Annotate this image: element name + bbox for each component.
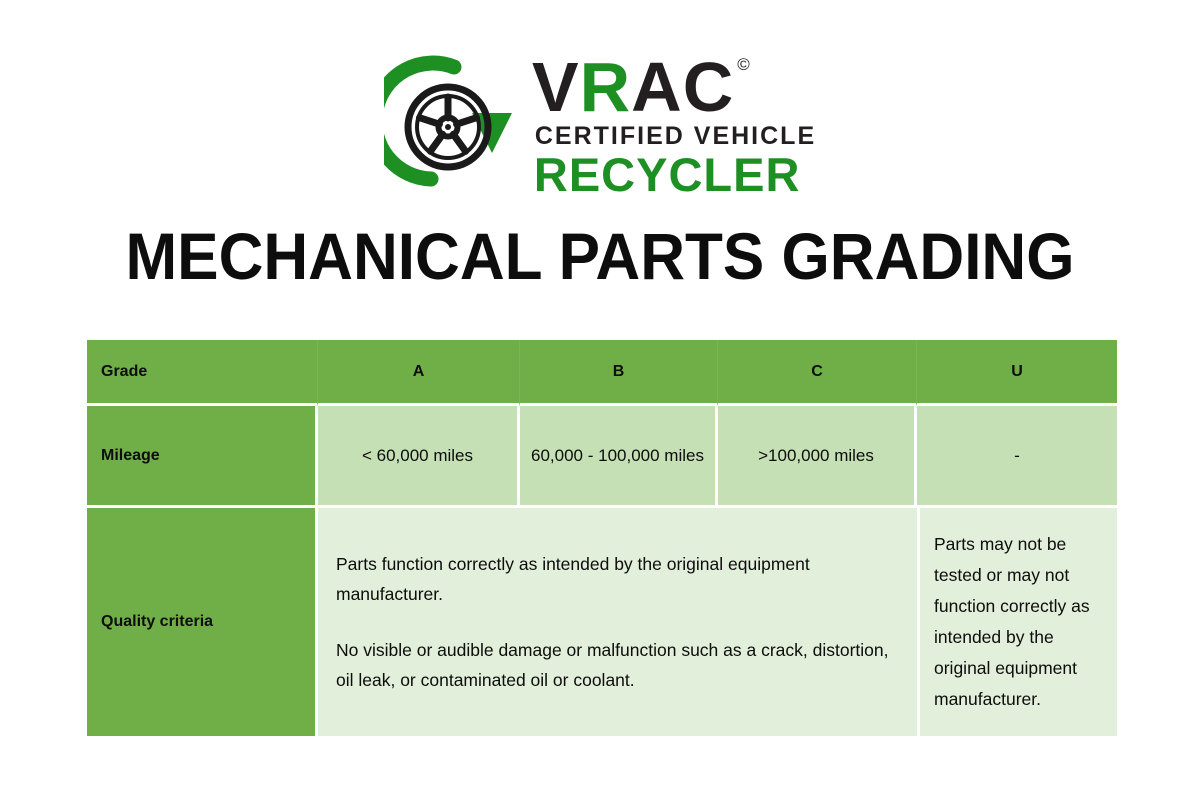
logo-letter-v: V (532, 52, 580, 122)
page-title: MECHANICAL PARTS GRADING (36, 218, 1164, 294)
vrac-logo: VRAC© CERTIFIED VEHICLE RECYCLER (0, 50, 1200, 200)
header-cell-grade: Grade (87, 340, 318, 406)
quality-abc-paragraph-2: No visible or audible damage or malfunct… (336, 635, 895, 695)
logo-letter-r: R (580, 52, 632, 122)
table-row-mileage: Mileage < 60,000 miles 60,000 - 100,000 … (87, 406, 1117, 508)
header-cell-c: C (718, 340, 917, 406)
row-label-mileage: Mileage (87, 406, 318, 508)
logo-brand-name: VRAC© (532, 52, 816, 122)
copyright-icon: © (737, 56, 751, 73)
logo-tagline: CERTIFIED VEHICLE (535, 124, 816, 149)
header-cell-u: U (917, 340, 1117, 406)
table-header-row: Grade A B C U (87, 340, 1117, 406)
quality-cell-u: Parts may not be tested or may not funct… (917, 508, 1117, 736)
row-label-quality-criteria: Quality criteria (87, 508, 318, 736)
mileage-cell-c: >100,000 miles (718, 406, 917, 508)
recycling-wheel-logo-icon (384, 55, 524, 195)
logo-brand-secondary: RECYCLER (534, 151, 816, 198)
grading-page: VRAC© CERTIFIED VEHICLE RECYCLER MECHANI… (0, 0, 1200, 800)
mechanical-parts-grading-table: Grade A B C U Mileage < 60,000 miles 60,… (87, 340, 1117, 736)
quality-u-paragraph: Parts may not be tested or may not funct… (934, 529, 1103, 716)
header-cell-b: B (520, 340, 718, 406)
mileage-cell-b: 60,000 - 100,000 miles (520, 406, 718, 508)
mileage-cell-u: - (917, 406, 1117, 508)
table-row-quality-criteria: Quality criteria Parts function correctl… (87, 508, 1117, 736)
header-cell-a: A (318, 340, 520, 406)
quality-abc-paragraph-1: Parts function correctly as intended by … (336, 549, 895, 609)
logo-letters-ac: AC (631, 52, 734, 122)
quality-cell-abc: Parts function correctly as intended by … (318, 508, 917, 736)
logo-wordmark: VRAC© CERTIFIED VEHICLE RECYCLER (532, 52, 816, 198)
mileage-cell-a: < 60,000 miles (318, 406, 520, 508)
